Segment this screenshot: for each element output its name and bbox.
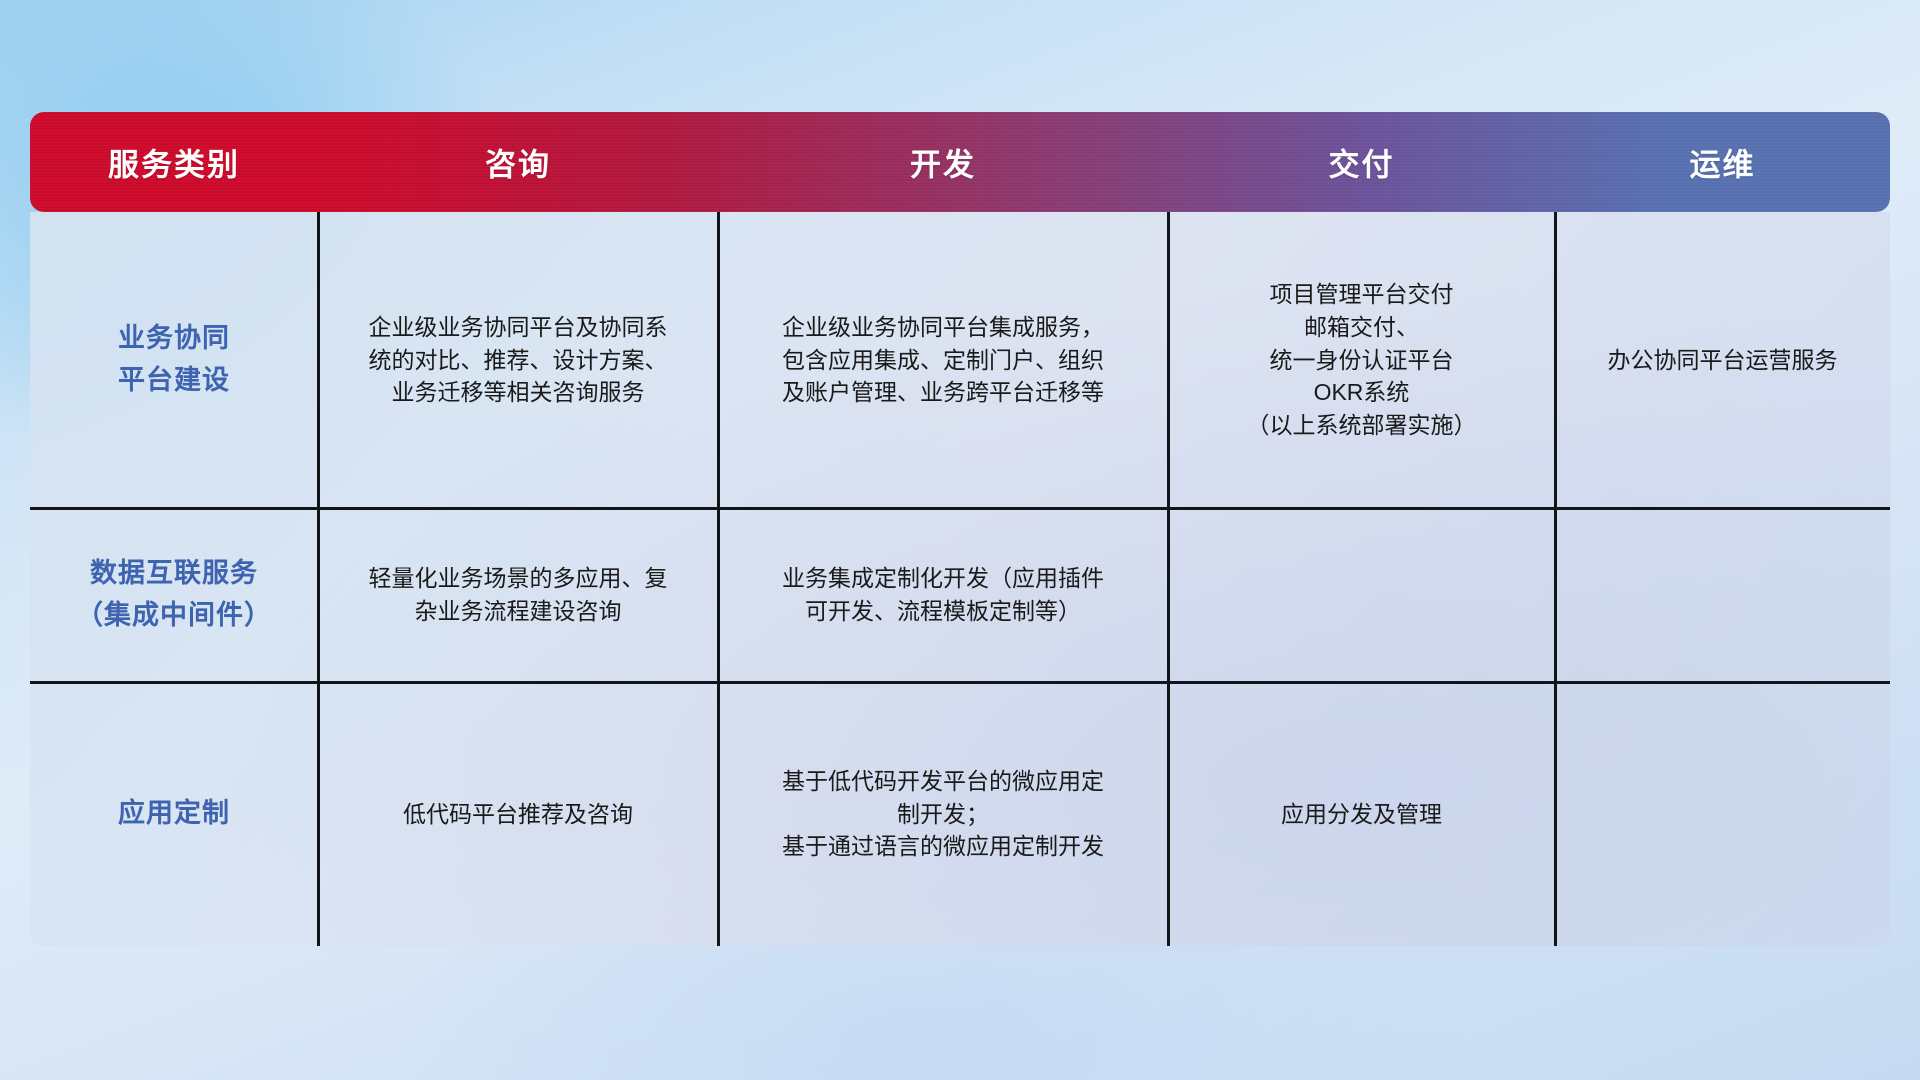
cell-text: 轻量化业务场景的多应用、复杂业务流程建设咨询 xyxy=(369,562,668,627)
cell-text: 应用分发及管理 xyxy=(1281,798,1442,831)
cell-delivery: 应用分发及管理 xyxy=(1168,682,1555,946)
text-line: 企业级业务协同平台及协同系 xyxy=(369,311,668,344)
text-line: 统一身份认证平台 xyxy=(1247,344,1477,377)
text-line: 基于低代码开发平台的微应用定 xyxy=(782,765,1104,798)
cell-text: 基于低代码开发平台的微应用定制开发；基于通过语言的微应用定制开发 xyxy=(782,765,1104,863)
cell-text: 办公协同平台运营服务 xyxy=(1608,344,1838,377)
text-line: 杂业务流程建设咨询 xyxy=(369,595,668,628)
cell-consulting: 企业级业务协同平台及协同系统的对比、推荐、设计方案、业务迁移等相关咨询服务 xyxy=(318,212,718,508)
column-header-development: 开发 xyxy=(718,140,1168,185)
cell-text: 企业级业务协同平台集成服务，包含应用集成、定制门户、组织及账户管理、业务跨平台迁… xyxy=(782,311,1104,409)
row-divider xyxy=(30,507,1890,510)
text-line: 业务协同 xyxy=(118,318,230,360)
text-line: 数据互联服务 xyxy=(76,553,272,595)
text-line: 业务集成定制化开发（应用插件 xyxy=(782,562,1104,595)
text-line: 制开发； xyxy=(782,798,1104,831)
table-header-row: 服务类别 咨询 开发 交付 运维 xyxy=(30,112,1890,212)
table-row: 业务协同平台建设企业级业务协同平台及协同系统的对比、推荐、设计方案、业务迁移等相… xyxy=(30,212,1890,508)
cell-text: 业务集成定制化开发（应用插件可开发、流程模板定制等） xyxy=(782,562,1104,627)
cell-development: 业务集成定制化开发（应用插件可开发、流程模板定制等） xyxy=(718,508,1168,682)
text-line: 包含应用集成、定制门户、组织 xyxy=(782,344,1104,377)
column-header-category: 服务类别 xyxy=(30,140,318,185)
text-line: 及账户管理、业务跨平台迁移等 xyxy=(782,376,1104,409)
cell-text: 业务协同平台建设 xyxy=(118,318,230,402)
text-line: 应用分发及管理 xyxy=(1281,798,1442,831)
cell-category: 业务协同平台建设 xyxy=(30,212,318,508)
cell-delivery xyxy=(1168,508,1555,682)
table-body: 业务协同平台建设企业级业务协同平台及协同系统的对比、推荐、设计方案、业务迁移等相… xyxy=(30,212,1890,946)
cell-category: 数据互联服务（集成中间件） xyxy=(30,508,318,682)
text-line: 办公协同平台运营服务 xyxy=(1608,344,1838,377)
text-line: 基于通过语言的微应用定制开发 xyxy=(782,830,1104,863)
text-line: 企业级业务协同平台集成服务， xyxy=(782,311,1104,344)
text-line: 应用定制 xyxy=(118,793,230,835)
cell-operations: 办公协同平台运营服务 xyxy=(1555,212,1890,508)
column-header-delivery: 交付 xyxy=(1168,140,1555,185)
service-category-table: 服务类别 咨询 开发 交付 运维 业务协同平台建设企业级业务协同平台及协同系统的… xyxy=(30,112,1890,946)
column-divider xyxy=(317,212,320,946)
column-divider xyxy=(1554,212,1557,946)
cell-text: 应用定制 xyxy=(118,793,230,835)
cell-text: 项目管理平台交付邮箱交付、统一身份认证平台OKR系统（以上系统部署实施） xyxy=(1247,278,1477,441)
table-row: 应用定制低代码平台推荐及咨询基于低代码开发平台的微应用定制开发；基于通过语言的微… xyxy=(30,682,1890,946)
column-header-operations: 运维 xyxy=(1555,140,1890,185)
cell-text: 数据互联服务（集成中间件） xyxy=(76,553,272,637)
cell-consulting: 轻量化业务场景的多应用、复杂业务流程建设咨询 xyxy=(318,508,718,682)
text-line: 低代码平台推荐及咨询 xyxy=(403,798,633,831)
cell-consulting: 低代码平台推荐及咨询 xyxy=(318,682,718,946)
cell-text: 企业级业务协同平台及协同系统的对比、推荐、设计方案、业务迁移等相关咨询服务 xyxy=(369,311,668,409)
cell-operations xyxy=(1555,682,1890,946)
text-line: （集成中间件） xyxy=(76,595,272,637)
column-divider xyxy=(1167,212,1170,946)
cell-development: 基于低代码开发平台的微应用定制开发；基于通过语言的微应用定制开发 xyxy=(718,682,1168,946)
cell-text: 低代码平台推荐及咨询 xyxy=(403,798,633,831)
cell-development: 企业级业务协同平台集成服务，包含应用集成、定制门户、组织及账户管理、业务跨平台迁… xyxy=(718,212,1168,508)
column-divider xyxy=(717,212,720,946)
cell-category: 应用定制 xyxy=(30,682,318,946)
row-divider xyxy=(30,681,1890,684)
text-line: 统的对比、推荐、设计方案、 xyxy=(369,344,668,377)
column-header-consulting: 咨询 xyxy=(318,140,718,185)
text-line: 平台建设 xyxy=(118,360,230,402)
cell-operations xyxy=(1555,508,1890,682)
text-line: 邮箱交付、 xyxy=(1247,311,1477,344)
text-line: 项目管理平台交付 xyxy=(1247,278,1477,311)
cell-delivery: 项目管理平台交付邮箱交付、统一身份认证平台OKR系统（以上系统部署实施） xyxy=(1168,212,1555,508)
text-line: 轻量化业务场景的多应用、复 xyxy=(369,562,668,595)
text-line: （以上系统部署实施） xyxy=(1247,409,1477,442)
text-line: 可开发、流程模板定制等） xyxy=(782,595,1104,628)
text-line: OKR系统 xyxy=(1247,376,1477,409)
table-row: 数据互联服务（集成中间件）轻量化业务场景的多应用、复杂业务流程建设咨询业务集成定… xyxy=(30,508,1890,682)
text-line: 业务迁移等相关咨询服务 xyxy=(369,376,668,409)
